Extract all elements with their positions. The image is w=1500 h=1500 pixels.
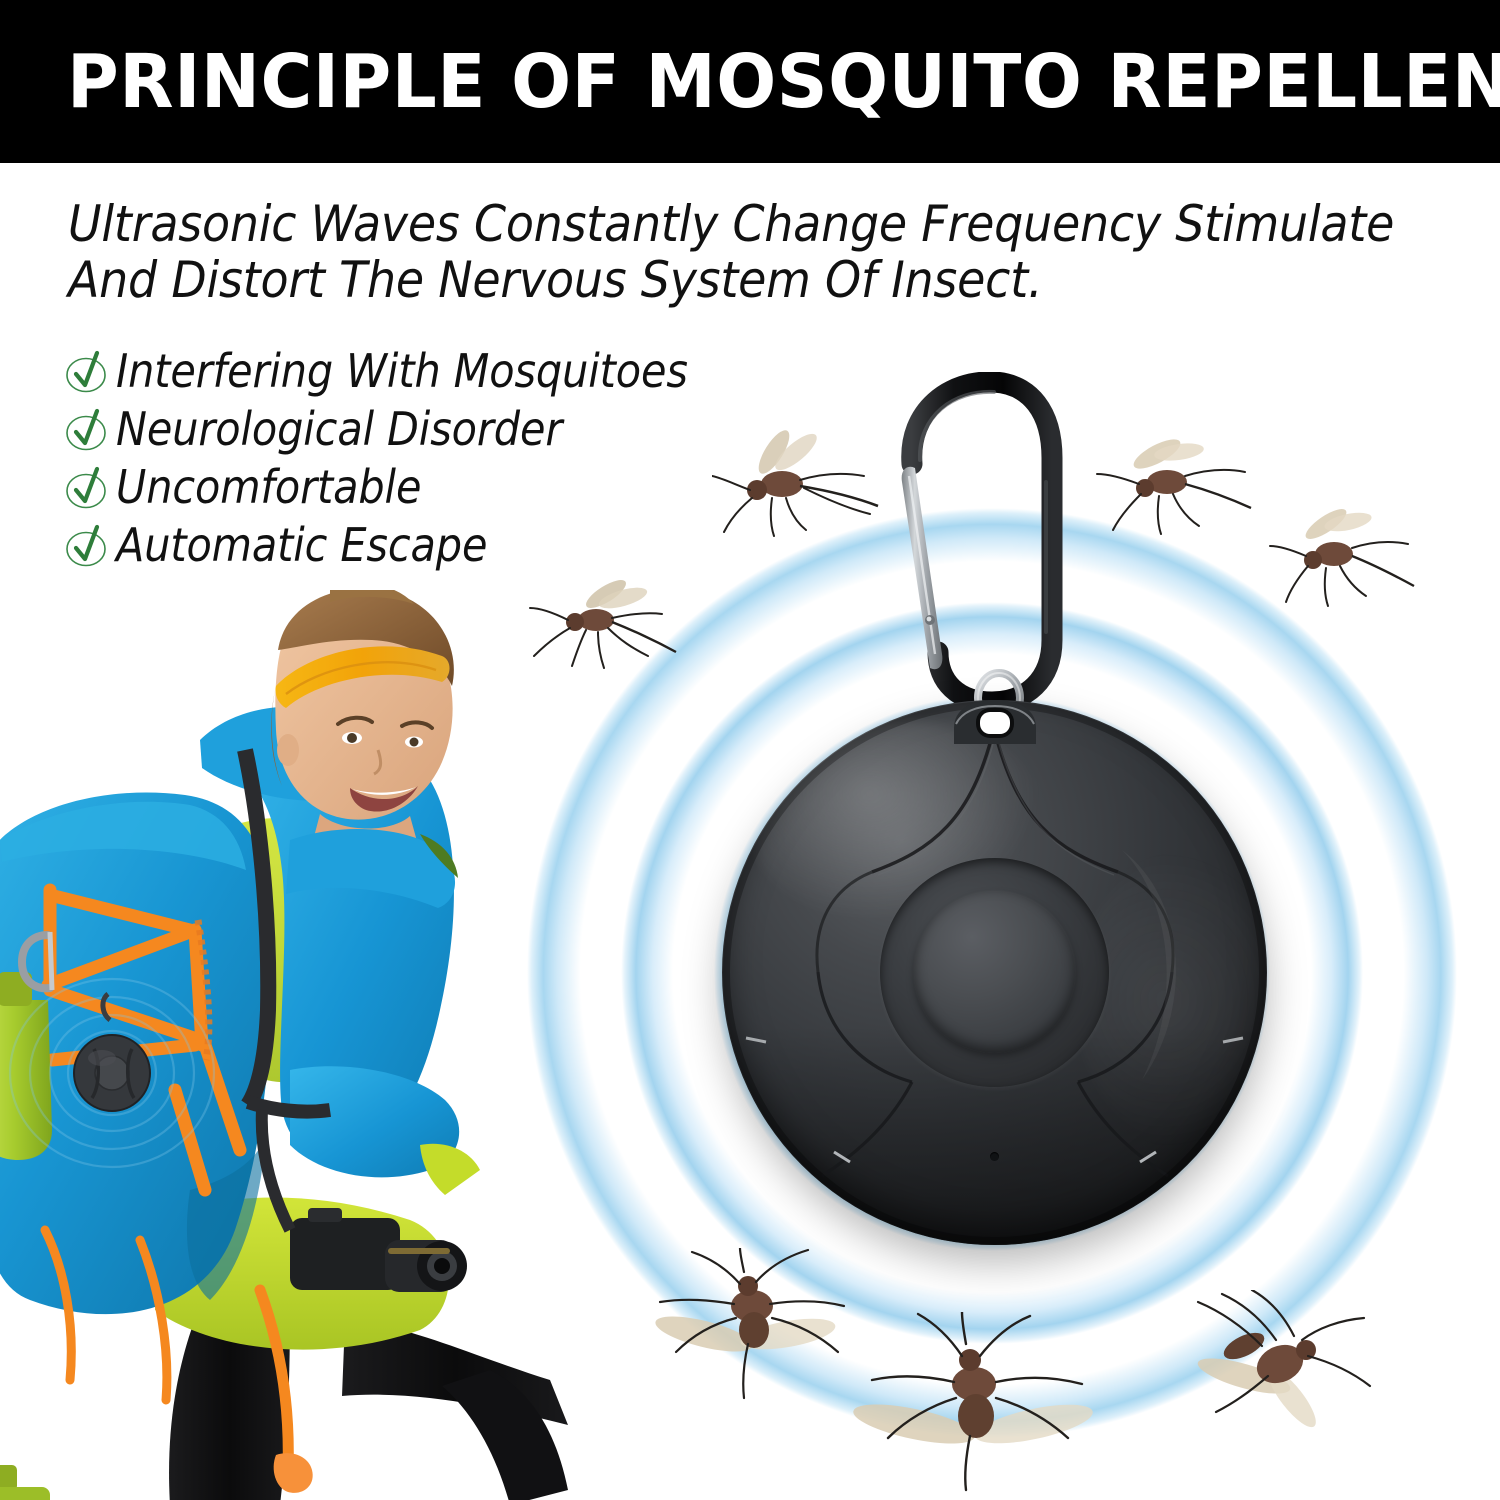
hiker-photo <box>0 590 570 1500</box>
led-indicator <box>990 1152 999 1161</box>
feature-label: Automatic Escape <box>116 520 487 570</box>
circled-check-icon <box>62 520 112 570</box>
feature-item-interfering: Interfering With Mosquitoes <box>62 343 762 399</box>
subtitle-line-1: Ultrasonic Waves Constantly Change Frequ… <box>68 196 1496 252</box>
carabiner-clip[interactable] <box>880 372 1065 717</box>
header-banner: PRINCIPLE OF MOSQUITO REPELLENT <box>0 0 1500 163</box>
circled-check-icon <box>62 346 112 396</box>
page-title: PRINCIPLE OF MOSQUITO REPELLENT <box>67 34 1500 130</box>
mosquito <box>1095 430 1255 540</box>
circled-check-icon <box>62 462 112 512</box>
mosquito <box>1172 1290 1402 1450</box>
carabiner-gate <box>902 467 943 669</box>
subtitle-block: Ultrasonic Waves Constantly Change Frequ… <box>68 196 1496 308</box>
mosquito <box>528 560 678 670</box>
feature-item-neurological: Neurological Disorder <box>62 401 762 457</box>
feature-label: Interfering With Mosquitoes <box>116 346 688 396</box>
mosquito <box>712 424 882 544</box>
feature-label: Neurological Disorder <box>116 404 562 454</box>
feature-item-uncomfortable: Uncomfortable <box>62 459 762 515</box>
mosquito <box>648 1248 868 1408</box>
subtitle-line-2: And Distort The Nervous System Of Insect… <box>68 252 1496 308</box>
power-button[interactable] <box>914 892 1075 1053</box>
mosquito <box>848 1312 1108 1492</box>
product-infographic: PRINCIPLE OF MOSQUITO REPELLENT Ultrason… <box>0 0 1500 1500</box>
hiker-head <box>271 590 454 820</box>
mosquito <box>1268 502 1418 612</box>
feature-label: Uncomfortable <box>116 462 421 512</box>
device-hang-lug <box>950 694 1040 746</box>
circled-check-icon <box>62 404 112 454</box>
ultrasonic-repellent-device[interactable] <box>722 700 1267 1245</box>
